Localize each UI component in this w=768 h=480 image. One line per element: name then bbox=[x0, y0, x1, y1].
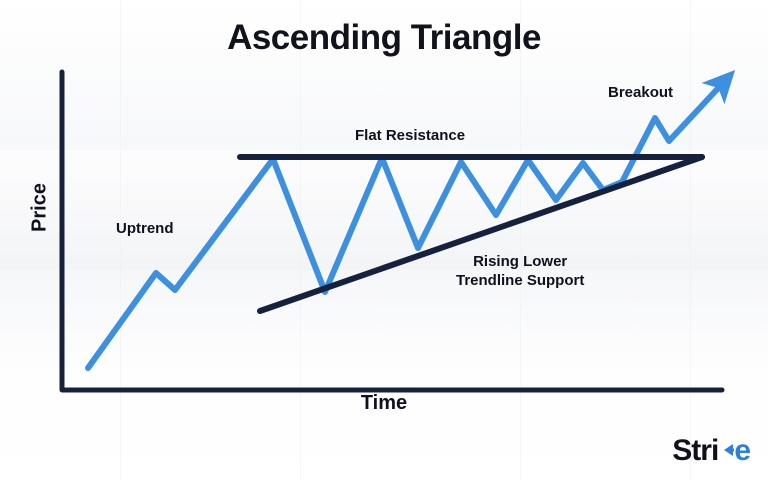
y-axis-label: Price bbox=[29, 158, 52, 258]
logo-text-dark: Stri bbox=[672, 434, 718, 468]
strike-logo: Stri e bbox=[672, 434, 750, 468]
annotation-rising-support: Rising Lower Trendline Support bbox=[456, 253, 584, 291]
chart-canvas: Ascending Triangle Price Time Uptrend Fl… bbox=[0, 0, 768, 480]
logo-arrow-icon bbox=[718, 434, 734, 468]
x-axis-label: Time bbox=[0, 392, 768, 415]
annotation-breakout: Breakout bbox=[608, 84, 673, 103]
annotation-uptrend: Uptrend bbox=[116, 220, 174, 239]
annotation-flat-resistance: Flat Resistance bbox=[355, 127, 465, 146]
logo-text-blue: e bbox=[734, 434, 750, 468]
